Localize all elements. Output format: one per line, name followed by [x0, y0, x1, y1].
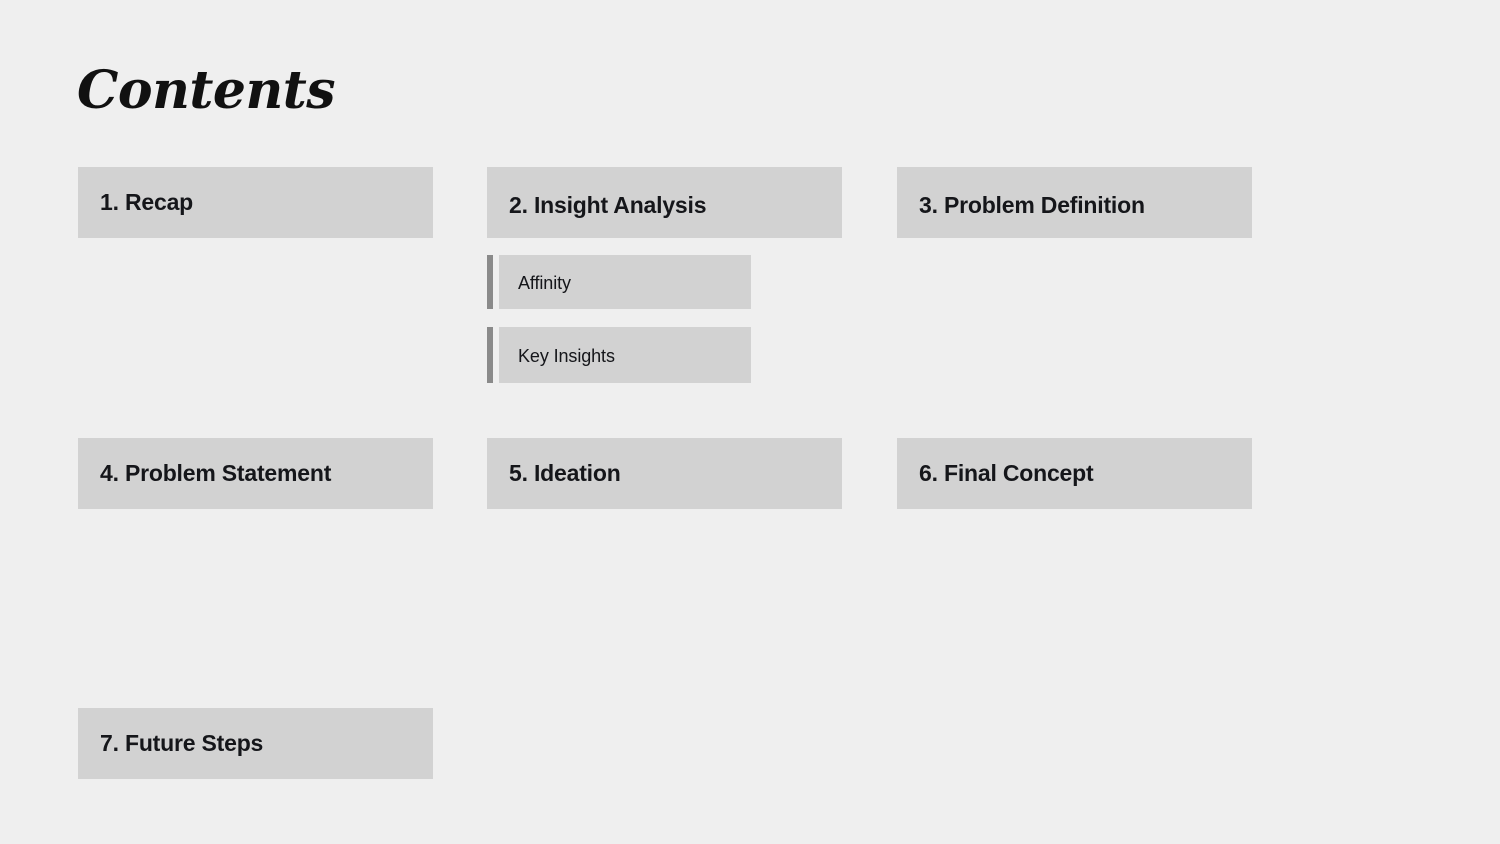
subsection-box[interactable]: Affinity: [499, 255, 751, 309]
page-title: Contents: [77, 60, 335, 122]
section-label: 1. Recap: [78, 188, 193, 216]
section-label: 6. Final Concept: [897, 459, 1093, 487]
subsection-label: Key Insights: [499, 345, 615, 367]
subsection-label: Affinity: [499, 272, 571, 294]
contents-slide: Contents 1. Recap 2. Insight Analysis 3.…: [0, 0, 1500, 844]
section-item-future-steps[interactable]: 7. Future Steps: [78, 708, 433, 779]
subsection-item-affinity[interactable]: Affinity: [487, 255, 751, 309]
section-label: 3. Problem Definition: [897, 191, 1145, 219]
section-item-problem-definition[interactable]: 3. Problem Definition: [897, 167, 1252, 238]
section-item-final-concept[interactable]: 6. Final Concept: [897, 438, 1252, 509]
subsection-box[interactable]: Key Insights: [499, 327, 751, 383]
section-label: 2. Insight Analysis: [487, 191, 706, 219]
section-item-ideation[interactable]: 5. Ideation: [487, 438, 842, 509]
section-item-problem-statement[interactable]: 4. Problem Statement: [78, 438, 433, 509]
section-label: 5. Ideation: [487, 459, 621, 487]
subsection-item-key-insights[interactable]: Key Insights: [487, 327, 751, 383]
section-item-insight-analysis[interactable]: 2. Insight Analysis: [487, 167, 842, 238]
section-label: 4. Problem Statement: [78, 459, 331, 487]
section-label: 7. Future Steps: [78, 729, 263, 757]
section-item-recap[interactable]: 1. Recap: [78, 167, 433, 238]
